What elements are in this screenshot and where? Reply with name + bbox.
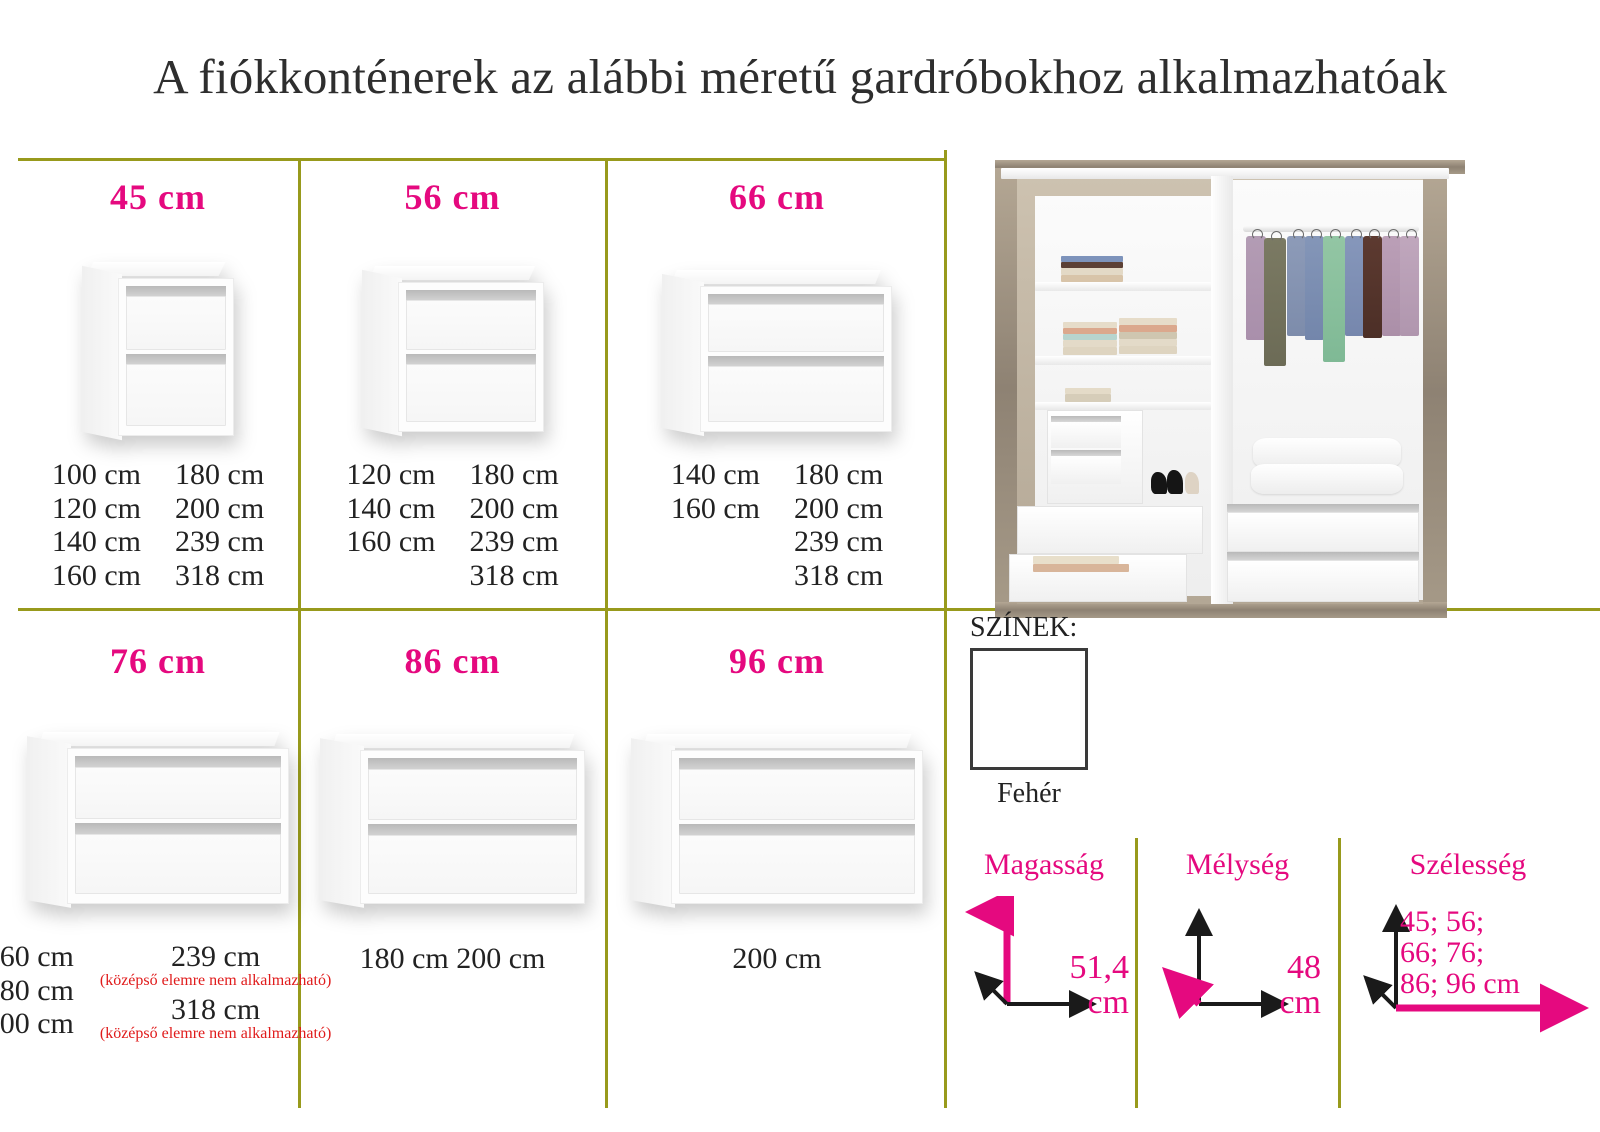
- size-cell-dimensions: 160 cm 180 cm 200 cm 239 cm (középső ele…: [18, 940, 298, 1043]
- page-title: A fiókkonténerek az alábbi méretű gardró…: [0, 48, 1600, 105]
- drawer-unit-icon: [305, 254, 600, 434]
- size-cell-dimensions: 140 cm 160 cm 180 cm 200 cm 239 cm 318 c…: [612, 458, 942, 592]
- size-cell-title: 56 cm: [305, 176, 600, 218]
- drawer-unit-icon: [612, 716, 942, 906]
- color-swatch-white[interactable]: [970, 648, 1088, 770]
- size-cell-96: 96 cm 200 cm: [612, 640, 942, 1100]
- drawer-unit-icon: [305, 716, 600, 906]
- dimension-right-column: 180 cm 200 cm 239 cm 318 cm: [794, 458, 883, 592]
- size-cell-title: 96 cm: [612, 640, 942, 682]
- size-cell-title: 76 cm: [18, 640, 298, 682]
- size-cell-76: 76 cm 160 cm 180 cm 200 cm 239 cm: [18, 640, 298, 1100]
- drawer-unit-icon: [612, 254, 942, 434]
- size-cell-title: 66 cm: [612, 176, 942, 218]
- size-cell-dimensions: 200 cm: [612, 942, 942, 976]
- axis-melyseg: Mélység 48 cm: [1145, 848, 1330, 1048]
- size-cell-86: 86 cm 180 cm 200 cm: [305, 640, 600, 1100]
- dimension-left-column: 100 cm 120 cm 140 cm 160 cm: [52, 458, 141, 592]
- grid-line-v1-top: [298, 158, 301, 608]
- size-cell-title: 86 cm: [305, 640, 600, 682]
- dimension-left-column: 120 cm 140 cm 160 cm: [346, 458, 435, 592]
- axis-label: Szélesség: [1348, 848, 1588, 882]
- grid-line-top: [18, 158, 946, 161]
- grid-line-v2-top: [605, 158, 608, 608]
- size-cell-title: 45 cm: [18, 176, 298, 218]
- axis-magassag: Magasság 51,4 cm: [955, 848, 1133, 1048]
- grid-line-axis-divider-1: [1135, 838, 1138, 1108]
- axis-value: 45; 56; 66; 76; 86; 96 cm: [1400, 906, 1586, 1000]
- drawer-unit-icon: [18, 254, 298, 434]
- wardrobe-photo: [965, 150, 1465, 620]
- dimension-right-column: 180 cm 200 cm 239 cm 318 cm: [470, 458, 559, 592]
- colors-heading: SZÍNEK:: [970, 612, 1077, 644]
- axis-label: Magasság: [955, 848, 1133, 882]
- grid-line-panel-divider: [944, 150, 947, 1108]
- color-swatch-label: Fehér: [970, 778, 1088, 810]
- axis-value: 48 cm: [1229, 950, 1321, 1021]
- drawer-unit-icon: [18, 716, 298, 906]
- grid-line-axis-divider-2: [1338, 838, 1341, 1108]
- size-cell-dimensions: 180 cm 200 cm: [305, 942, 600, 976]
- size-cell-56: 56 cm 120 cm 140 cm 160 cm 180 cm 200 cm: [305, 176, 600, 596]
- size-cell-66: 66 cm 140 cm 160 cm 180 cm 200 cm 239 cm: [612, 176, 942, 596]
- dimension-left-column: 140 cm 160 cm: [671, 458, 760, 592]
- restriction-note: (középső elemre nem alkalmazható): [100, 1026, 331, 1043]
- size-cell-45: 45 cm 100 cm 120 cm 140 cm 160 cm 180 cm: [18, 176, 298, 596]
- dimension-with-note: 239 cm (középső elemre nem alkalmazható): [100, 940, 331, 989]
- dimension-left-column: 160 cm 180 cm 200 cm: [0, 940, 74, 1041]
- grid-line-v2-bottom: [605, 611, 608, 1108]
- size-cell-dimensions: 120 cm 140 cm 160 cm 180 cm 200 cm 239 c…: [305, 458, 600, 592]
- dimension-right-column: 239 cm (középső elemre nem alkalmazható)…: [100, 940, 331, 1043]
- axis-value: 51,4 cm: [1033, 950, 1129, 1021]
- axis-szelesseg: Szélesség 45; 56; 66; 76; 86; 96 cm: [1348, 848, 1588, 1048]
- dimension-with-note: 318 cm (középső elemre nem alkalmazható): [100, 993, 331, 1042]
- size-cell-dimensions: 100 cm 120 cm 140 cm 160 cm 180 cm 200 c…: [18, 458, 298, 592]
- infographic-page: A fiókkonténerek az alábbi méretű gardró…: [0, 0, 1600, 1132]
- axis-label: Mélység: [1145, 848, 1330, 882]
- restriction-note: (középső elemre nem alkalmazható): [100, 973, 331, 990]
- dimension-right-column: 180 cm 200 cm 239 cm 318 cm: [175, 458, 264, 592]
